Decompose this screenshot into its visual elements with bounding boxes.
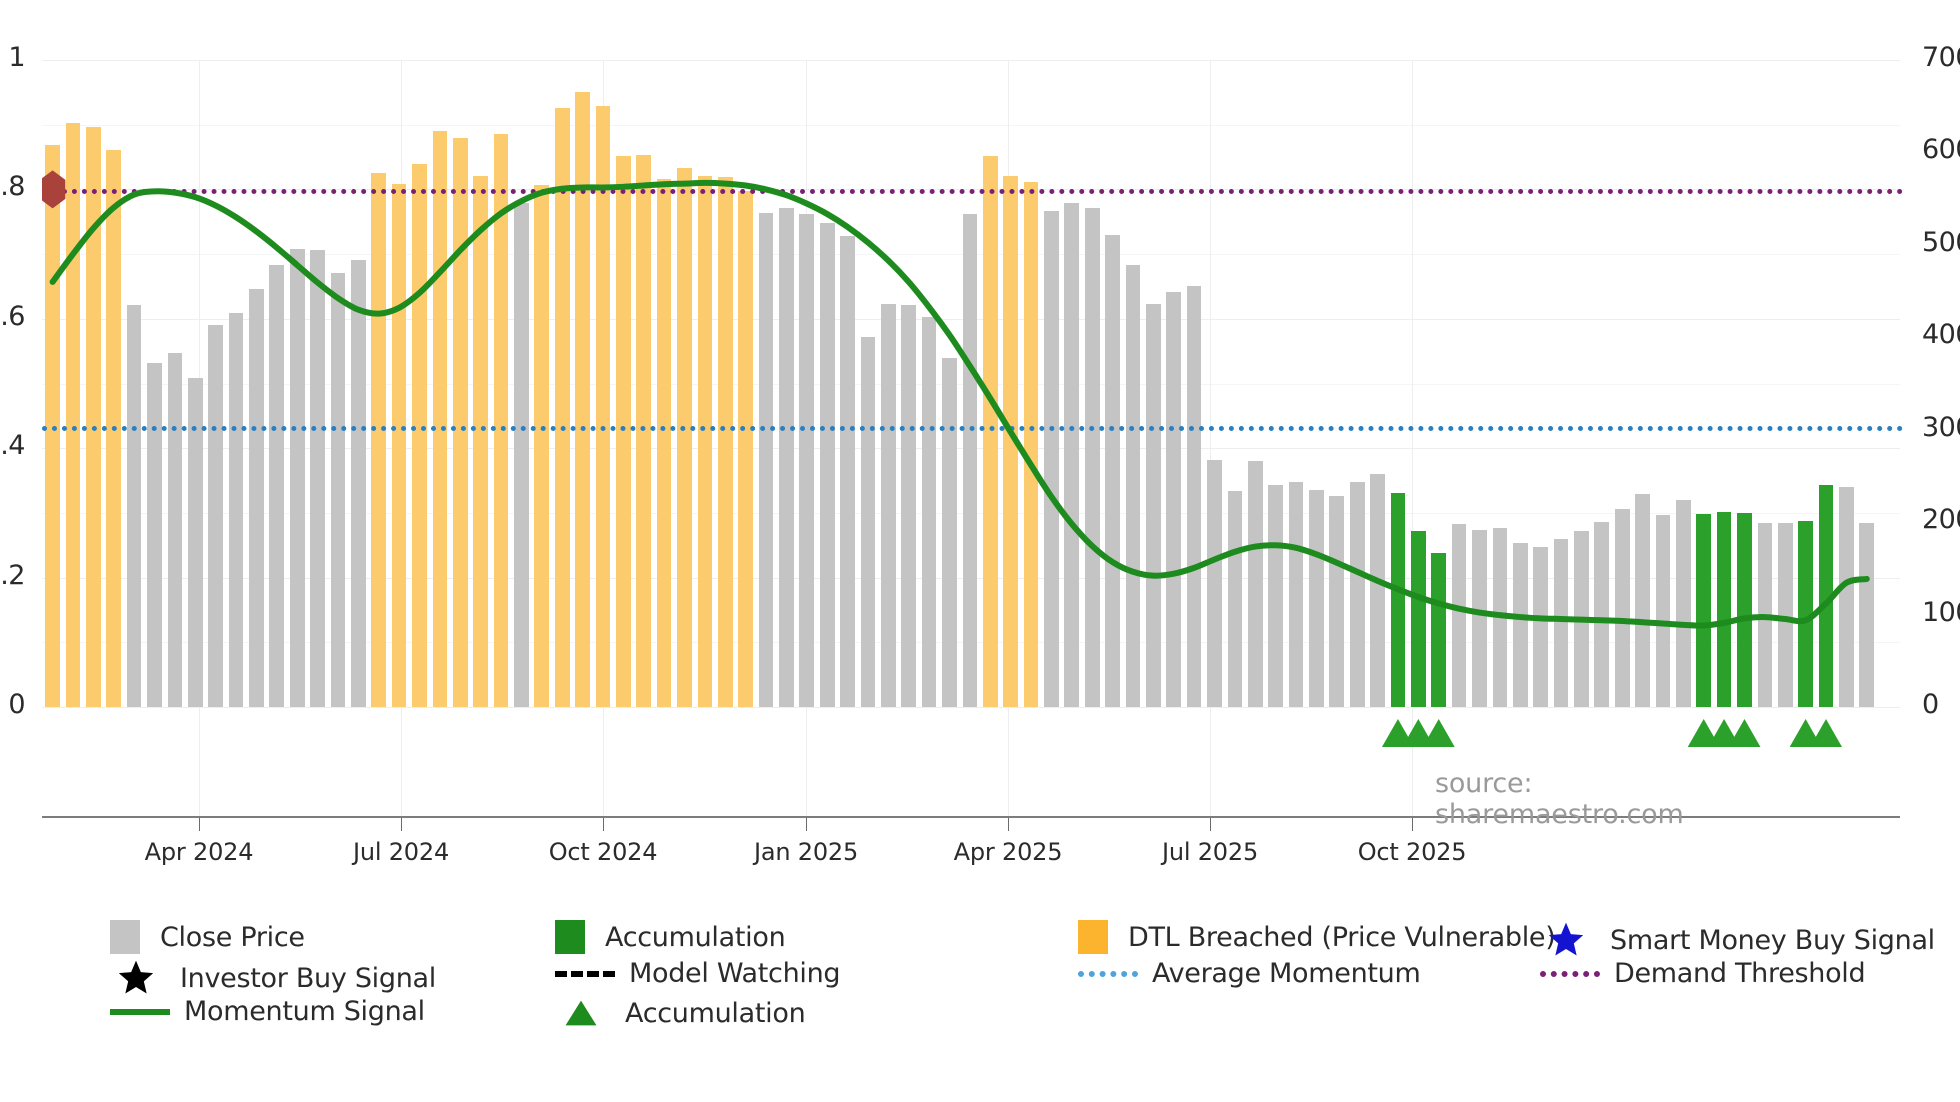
price-bar xyxy=(1024,182,1039,707)
price-bar xyxy=(1778,523,1793,707)
left-axis-tick-label: 0 xyxy=(0,689,25,720)
price-bar xyxy=(1737,513,1752,707)
legend-label: Demand Threshold xyxy=(1614,958,1865,989)
x-axis-tick-label: Oct 2024 xyxy=(493,838,713,866)
price-bar xyxy=(392,184,407,707)
price-bar xyxy=(208,325,223,707)
demand-threshold-line-icon xyxy=(1540,971,1600,977)
price-bar xyxy=(1126,265,1141,707)
legend-item-dtl-breached[interactable]: DTL Breached (Price Vulnerable) xyxy=(1078,920,1555,954)
x-axis-tick-mark xyxy=(1008,818,1009,831)
legend-item-close-price[interactable]: Close Price xyxy=(110,920,305,954)
price-bar xyxy=(453,138,468,707)
accumulation-triangle-marker xyxy=(1810,719,1842,747)
legend-item-accumulation-triangle[interactable]: Accumulation xyxy=(555,996,805,1030)
x-axis-tick-label: Jul 2024 xyxy=(291,838,511,866)
price-bar xyxy=(1513,543,1528,707)
price-bar xyxy=(331,273,346,707)
price-bar xyxy=(249,289,264,707)
price-bar xyxy=(596,106,611,707)
legend-label: Accumulation xyxy=(625,998,805,1029)
price-bar xyxy=(269,265,284,707)
price-bar xyxy=(1003,176,1018,707)
price-bar xyxy=(922,317,937,707)
momentum-signal-line-icon xyxy=(110,1009,170,1015)
x-axis-tick-mark xyxy=(806,818,807,831)
price-bar xyxy=(433,131,448,707)
price-bar xyxy=(168,353,183,707)
left-axis-tick-label: 0.6 xyxy=(0,301,25,332)
price-bar xyxy=(1309,490,1324,707)
right-axis-tick-label: 100 xyxy=(1922,597,1960,628)
price-bar xyxy=(698,176,713,707)
price-bar xyxy=(657,179,672,707)
price-bar xyxy=(147,363,162,707)
price-bar xyxy=(1391,493,1406,707)
legend-label: Close Price xyxy=(160,922,305,953)
price-bar xyxy=(86,127,101,707)
price-bar xyxy=(799,214,814,707)
x-axis-tick-mark xyxy=(1412,818,1413,831)
demand-threshold-line xyxy=(42,189,1904,194)
legend-label: DTL Breached (Price Vulnerable) xyxy=(1128,922,1555,953)
price-bar xyxy=(942,358,957,707)
price-bar xyxy=(494,134,509,707)
legend-item-investor-buy[interactable]: Investor Buy Signal xyxy=(110,958,436,998)
accumulation-triangle-marker xyxy=(1423,719,1455,747)
price-bar xyxy=(290,249,305,707)
price-bar xyxy=(1329,496,1344,707)
price-bar xyxy=(1268,485,1283,707)
price-bar xyxy=(371,173,386,707)
price-bar xyxy=(1289,482,1304,707)
price-bar xyxy=(1085,208,1100,707)
price-bar xyxy=(1064,203,1079,707)
average-momentum-line-icon xyxy=(1078,971,1138,977)
plot-area xyxy=(42,60,1900,707)
price-bar xyxy=(1819,485,1834,707)
legend-label: Accumulation xyxy=(605,922,785,953)
legend-label: Momentum Signal xyxy=(184,996,425,1027)
price-bar xyxy=(127,305,142,707)
price-bar xyxy=(534,185,549,707)
price-bar xyxy=(575,92,590,707)
legend-item-average-momentum[interactable]: Average Momentum xyxy=(1078,958,1421,989)
x-axis-tick-label: Apr 2024 xyxy=(89,838,309,866)
left-axis-tick-label: 0.2 xyxy=(0,560,25,591)
price-bar xyxy=(1574,531,1589,707)
accumulation-triangle-marker xyxy=(1728,719,1760,747)
investor-buy-star-icon xyxy=(110,958,162,998)
price-bar xyxy=(779,208,794,707)
price-bar xyxy=(1431,553,1446,707)
legend-item-momentum-signal[interactable]: Momentum Signal xyxy=(110,996,425,1027)
price-bar xyxy=(901,305,916,707)
x-axis-tick-label: Oct 2025 xyxy=(1302,838,1522,866)
price-bar xyxy=(351,260,366,707)
legend-label: Investor Buy Signal xyxy=(180,963,436,994)
x-axis-tick-label: Jul 2025 xyxy=(1100,838,1320,866)
legend-item-model-watching[interactable]: Model Watching xyxy=(555,958,840,989)
price-bar xyxy=(412,164,427,707)
price-bar xyxy=(1717,512,1732,707)
price-bar xyxy=(1676,500,1691,707)
price-bar xyxy=(1370,474,1385,707)
price-bar xyxy=(555,108,570,707)
price-bar xyxy=(963,214,978,707)
price-bar xyxy=(1350,482,1365,707)
price-bar xyxy=(759,213,774,707)
smart-money-buy-star-icon xyxy=(1540,920,1592,960)
price-bar xyxy=(1228,491,1243,707)
price-bar xyxy=(1044,211,1059,707)
price-bar xyxy=(1452,524,1467,707)
price-bar xyxy=(738,191,753,707)
left-axis-tick-label: 1 xyxy=(0,42,25,73)
right-axis-tick-label: 600 xyxy=(1922,134,1960,165)
x-axis-tick-mark xyxy=(603,818,604,831)
price-bar xyxy=(514,203,529,707)
price-bar xyxy=(1533,547,1548,707)
price-bar xyxy=(310,250,325,707)
x-axis-tick-label: Apr 2025 xyxy=(898,838,1118,866)
x-axis-tick-label: Jan 2025 xyxy=(696,838,916,866)
left-axis-tick-label: 0.4 xyxy=(0,430,25,461)
price-bar xyxy=(983,156,998,707)
price-bar xyxy=(473,176,488,707)
source-note: source: sharemaestro.com xyxy=(1435,768,1785,830)
right-axis-tick-label: 0 xyxy=(1922,689,1960,720)
legend-item-smart-money-buy[interactable]: Smart Money Buy Signal xyxy=(1540,920,1935,960)
accumulation-triangle-triangle-icon xyxy=(555,996,607,1030)
x-axis-tick-mark xyxy=(401,818,402,831)
left-axis-tick-label: 0.8 xyxy=(0,171,25,202)
right-axis-tick-label: 300 xyxy=(1922,412,1960,443)
price-bar xyxy=(1166,292,1181,707)
price-bar xyxy=(1187,286,1202,707)
price-bar xyxy=(1859,523,1874,707)
dtl-breached-swatch-icon xyxy=(1078,920,1108,954)
price-bar xyxy=(881,304,896,707)
x-axis-tick-mark xyxy=(199,818,200,831)
price-bar xyxy=(616,156,631,707)
model-watching-line-icon xyxy=(555,971,615,977)
legend-label: Model Watching xyxy=(629,958,840,989)
price-bar xyxy=(1758,523,1773,707)
price-bar xyxy=(677,168,692,707)
price-bar xyxy=(820,223,835,707)
price-bar xyxy=(1839,487,1854,707)
chart-root: 00.20.40.60.81 0100200300400500600700 Ap… xyxy=(0,0,1960,1102)
price-bar xyxy=(1493,528,1508,707)
price-bar xyxy=(1615,509,1630,707)
price-bar xyxy=(861,337,876,707)
price-bar xyxy=(718,177,733,707)
price-bar xyxy=(1656,515,1671,707)
right-axis-tick-label: 700 xyxy=(1922,42,1960,73)
price-bar xyxy=(1472,530,1487,707)
legend-item-demand-threshold[interactable]: Demand Threshold xyxy=(1540,958,1865,989)
average-momentum-line xyxy=(42,426,1904,431)
legend-item-accumulation-bar[interactable]: Accumulation xyxy=(555,920,785,954)
price-bar xyxy=(1554,539,1569,707)
price-bar xyxy=(1248,461,1263,707)
price-bar xyxy=(636,155,651,707)
right-axis-tick-label: 200 xyxy=(1922,504,1960,535)
price-bar xyxy=(1105,235,1120,707)
right-axis-tick-label: 400 xyxy=(1922,319,1960,350)
price-bar xyxy=(229,313,244,707)
price-bar xyxy=(1798,521,1813,707)
price-bar xyxy=(1146,304,1161,707)
price-bar xyxy=(1635,494,1650,707)
price-bar xyxy=(840,236,855,707)
price-bar xyxy=(66,123,81,707)
price-bar xyxy=(1594,522,1609,707)
accumulation-bar-swatch-icon xyxy=(555,920,585,954)
price-bar xyxy=(1207,460,1222,707)
close-price-swatch-icon xyxy=(110,920,140,954)
x-axis-tick-mark xyxy=(1210,818,1211,831)
right-axis-tick-label: 500 xyxy=(1922,227,1960,258)
price-bar xyxy=(1696,514,1711,707)
legend-label: Smart Money Buy Signal xyxy=(1610,925,1935,956)
price-bar xyxy=(1411,531,1426,707)
legend-label: Average Momentum xyxy=(1152,958,1421,989)
bar-series xyxy=(42,60,1900,707)
